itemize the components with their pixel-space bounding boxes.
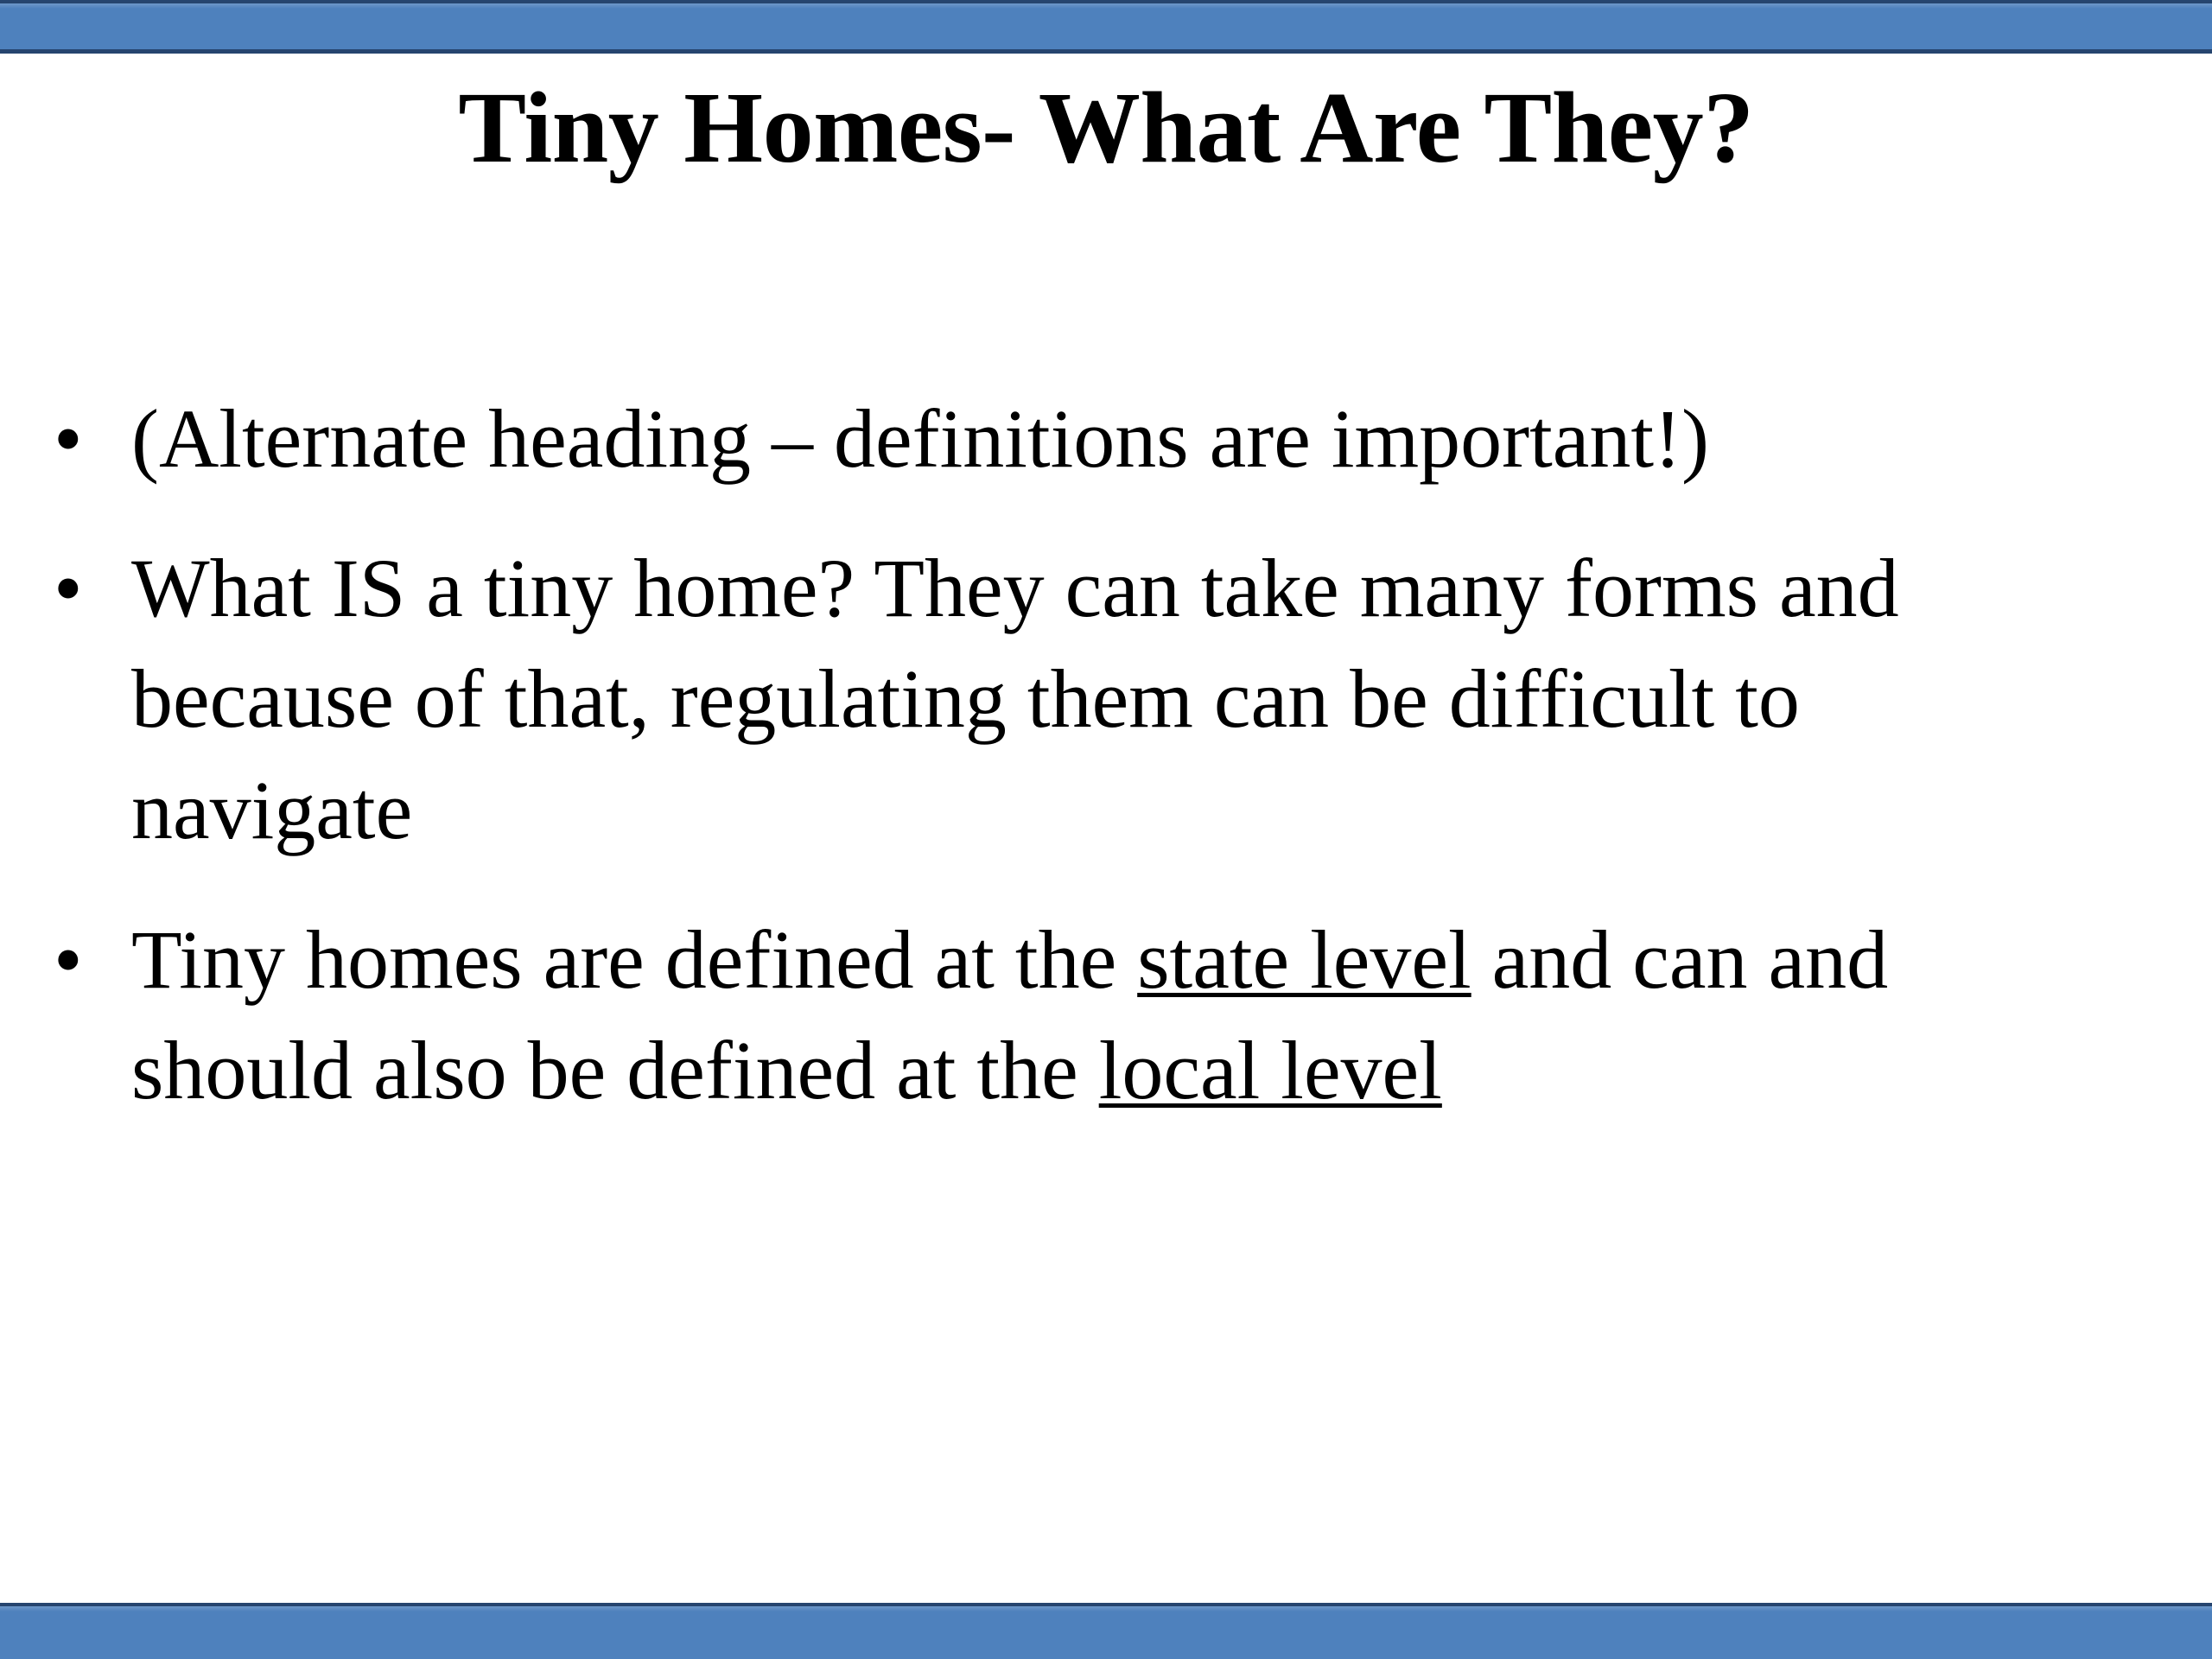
slide-canvas: Tiny Homes- What Are They? • (Alternate … <box>0 0 2212 1659</box>
underlined-phrase: local level <box>1099 1024 1442 1116</box>
bullet-marker-icon: • <box>54 533 88 645</box>
page-title: Tiny Homes- What Are They? <box>0 74 2212 181</box>
list-item: • What IS a tiny home? They can take man… <box>0 533 2134 867</box>
list-item-text: (Alternate heading – definitions are imp… <box>131 384 2101 495</box>
bottom-accent-bar <box>0 1603 2212 1659</box>
text-run: (Alternate heading – definitions are imp… <box>131 392 1709 485</box>
underlined-phrase: state level <box>1137 913 1471 1006</box>
bullet-marker-icon: • <box>54 905 88 1016</box>
text-run: What IS a tiny home? They can take many … <box>131 542 1899 856</box>
bullet-marker-icon: • <box>54 384 88 495</box>
list-item: • (Alternate heading – definitions are i… <box>0 384 2134 495</box>
text-run: Tiny homes are defined at the <box>131 913 1137 1006</box>
bullet-list: • (Alternate heading – definitions are i… <box>0 384 2134 1127</box>
list-item-text: Tiny homes are defined at the state leve… <box>131 905 2101 1127</box>
list-item: • Tiny homes are defined at the state le… <box>0 905 2134 1127</box>
list-item-text: What IS a tiny home? They can take many … <box>131 533 2101 867</box>
top-accent-bar <box>0 0 2212 54</box>
